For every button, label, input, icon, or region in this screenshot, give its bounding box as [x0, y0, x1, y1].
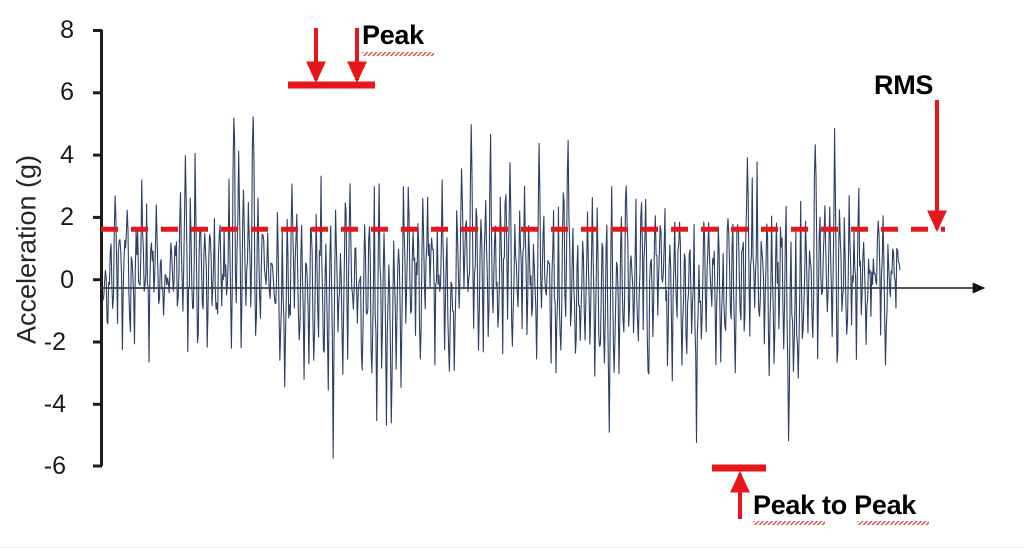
- bottom-divider: [0, 547, 1024, 548]
- chart-figure: Acceleration (g) 8 6 4 2 0 -2 -4 -6 Peak…: [0, 0, 1024, 549]
- y-tick-label-6: 6: [30, 78, 74, 107]
- peak-to-peak-spellcheck-underline-1: [753, 521, 825, 525]
- peak-annotation-label: Peak: [362, 20, 424, 51]
- y-tick-label-neg4: -4: [22, 390, 66, 419]
- y-tick-label-8: 8: [30, 16, 74, 45]
- y-tick-label-0: 0: [30, 266, 74, 295]
- peak-spellcheck-underline: [362, 52, 434, 56]
- peak-to-peak-annotation-label: Peak to Peak: [753, 490, 916, 521]
- y-tick-label-4: 4: [30, 141, 74, 170]
- chart-canvas: [0, 0, 1024, 549]
- peak-to-peak-spellcheck-underline-2: [857, 521, 929, 525]
- y-tick-label-neg2: -2: [22, 328, 66, 357]
- y-tick-label-neg6: -6: [22, 452, 66, 481]
- y-tick-label-2: 2: [30, 203, 74, 232]
- rms-annotation-label: RMS: [874, 70, 933, 101]
